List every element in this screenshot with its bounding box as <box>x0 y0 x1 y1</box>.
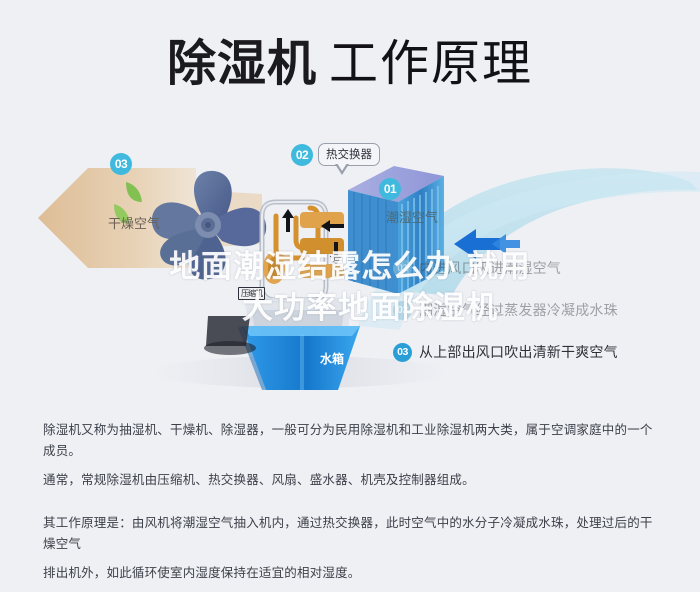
step-item-02: 02 潮湿空气经过蒸发器冷凝成水珠 <box>393 297 693 323</box>
infographic-page: 除湿机工作原理 <box>0 0 700 566</box>
step-text-02: 潮湿空气经过蒸发器冷凝成水珠 <box>419 300 618 320</box>
title-light-part: 工作原理 <box>329 37 533 91</box>
paragraph-3: 其工作原理是：由风机将潮湿空气抽入机内，通过热交换器，此时空气中的水分子冷凝成水… <box>43 513 663 555</box>
paragraph-2: 通常，常规除湿机由压缩机、热交换器、风扇、盛水器、机壳及控制器组成。 <box>43 470 663 491</box>
step-item-03: 03 从上部出风口吹出清新干爽空气 <box>393 339 693 365</box>
step-number-02: 02 <box>393 301 412 320</box>
badge-03: 03 <box>110 153 132 175</box>
step-text-03: 从上部出风口吹出清新干爽空气 <box>419 342 618 362</box>
label-water-tank: 水箱 <box>320 350 344 367</box>
label-humid-air: 潮湿空气 <box>386 207 438 226</box>
heat-exchanger-callout: 热交换器 <box>318 143 380 166</box>
title-bold-part: 除湿机 <box>167 37 317 91</box>
label-compressor: 压缩机 <box>238 287 265 300</box>
step-item-01: 01 内进风口吸进潮湿空气 <box>393 255 693 281</box>
badge-02: 02 <box>291 144 313 166</box>
body-copy: 除湿机又称为抽湿机、干燥机、除湿器，一般可分为民用除湿机和工业除湿机两大类，属于… <box>43 420 663 592</box>
paragraph-4: 排出机外，如此循环使室内湿度保持在适宜的相对湿度。 <box>43 563 663 584</box>
step-text-01: 内进风口吸进潮湿空气 <box>419 258 561 278</box>
label-dry-air: 干燥空气 <box>108 213 160 232</box>
page-title: 除湿机工作原理 <box>0 24 700 95</box>
step-number-01: 01 <box>393 259 412 278</box>
paragraph-1: 除湿机又称为抽湿机、干燥机、除湿器，一般可分为民用除湿机和工业除湿机两大类，属于… <box>43 420 663 462</box>
badge-01: 01 <box>379 178 401 200</box>
step-number-03: 03 <box>393 343 412 362</box>
callout-tail-icon <box>335 164 349 175</box>
steps-list: 01 内进风口吸进潮湿空气 02 潮湿空气经过蒸发器冷凝成水珠 03 从上部出风… <box>393 255 693 381</box>
